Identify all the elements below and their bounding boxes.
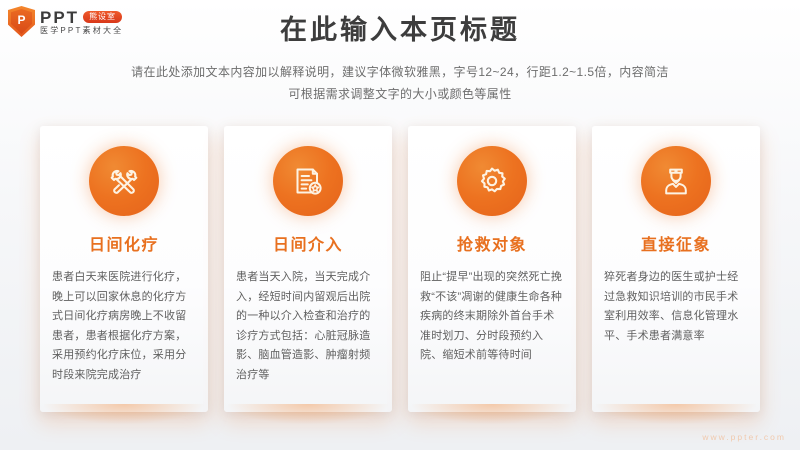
subtitle-line-1: 请在此处添加文本内容加以解释说明，建议字体微软雅黑，字号12~24，行距1.2~… (0, 61, 800, 83)
card-item[interactable]: 日间介入 患者当天入院，当天完成介入，经短时间内留观后出院的一种以介入检查和治疗… (224, 126, 392, 412)
card-body: 猝死者身边的医生或护士经过急救知识培训的市民手术室利用效率、信息化管理水平、手术… (602, 268, 750, 346)
tools-icon (89, 146, 159, 216)
card-body: 患者当天入院，当天完成介入，经短时间内留观后出院的一种以介入检查和治疗的诊疗方式… (234, 268, 382, 385)
card-title: 抢救对象 (457, 238, 527, 254)
card-list: 日间化疗 患者白天来医院进行化疗，晚上可以回家休息的化疗方式日间化疗病房晚上不收… (40, 126, 760, 412)
page-subtitle: 请在此处添加文本内容加以解释说明，建议字体微软雅黑，字号12~24，行距1.2~… (0, 61, 800, 105)
card-body: 患者白天来医院进行化疗，晚上可以回家休息的化疗方式日间化疗病房晚上不收留患者，患… (50, 268, 198, 385)
page-title: 在此输入本页标题 (0, 14, 800, 48)
page-header: 在此输入本页标题 请在此处添加文本内容加以解释说明，建议字体微软雅黑，字号12~… (0, 14, 800, 105)
card-item[interactable]: 日间化疗 患者白天来医院进行化疗，晚上可以回家休息的化疗方式日间化疗病房晚上不收… (40, 126, 208, 412)
card-item[interactable]: 直接征象 猝死者身边的医生或护士经过急救知识培训的市民手术室利用效率、信息化管理… (592, 126, 760, 412)
card-title: 直接征象 (641, 238, 711, 254)
certificate-icon (273, 146, 343, 216)
card-title: 日间化疗 (89, 238, 159, 254)
doctor-icon (641, 146, 711, 216)
card-body: 阻止“提早”出现的突然死亡挽救“不该”凋谢的健康生命各种疾病的终末期除外首台手术… (418, 268, 566, 366)
card-title: 日间介入 (273, 238, 343, 254)
watermark: www.ppter.com (702, 432, 786, 442)
card-item[interactable]: 抢救对象 阻止“提早”出现的突然死亡挽救“不该”凋谢的健康生命各种疾病的终末期除… (408, 126, 576, 412)
gear-icon (457, 146, 527, 216)
subtitle-line-2: 可根据需求调整文字的大小或颜色等属性 (0, 83, 800, 105)
